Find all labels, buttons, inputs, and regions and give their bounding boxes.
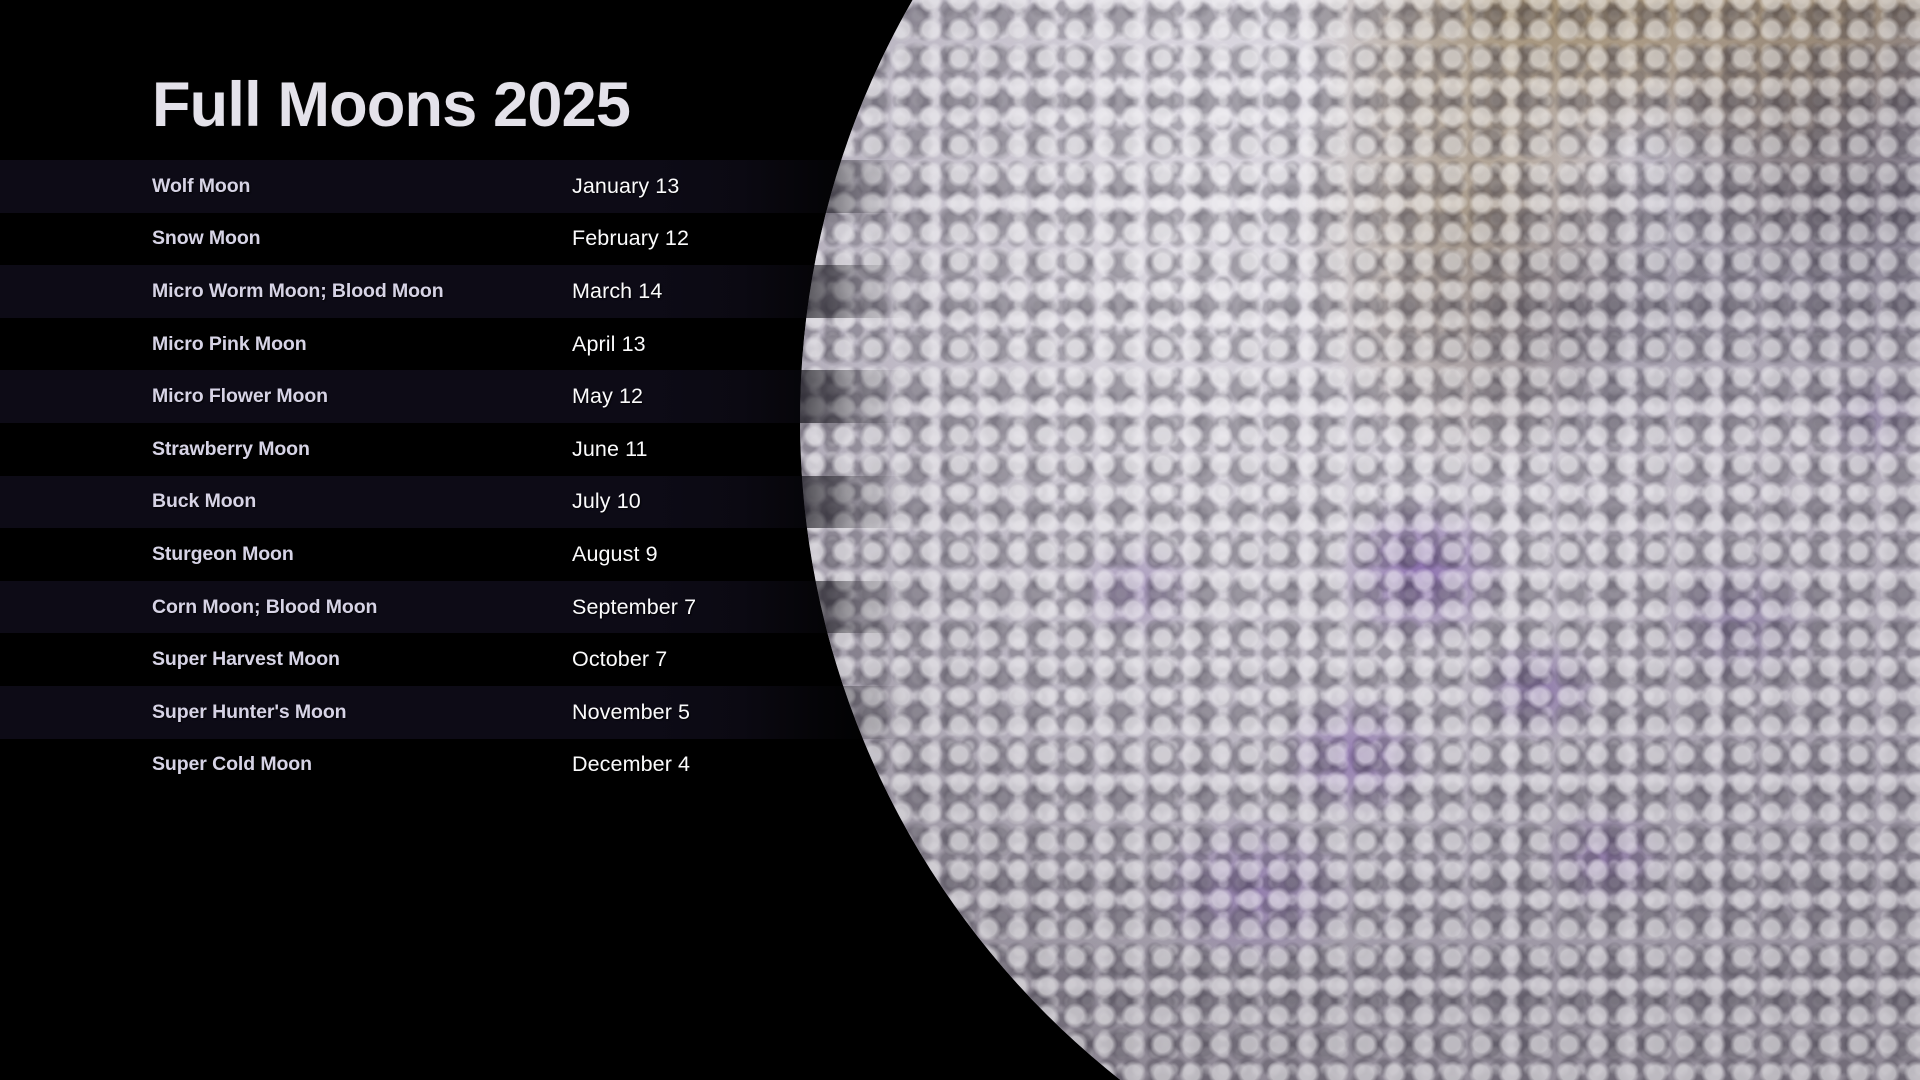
table-row: Sturgeon MoonAugust 9 (0, 528, 980, 581)
moon-name-cell: Super Hunter's Moon (152, 701, 572, 724)
moon-name-cell: Micro Worm Moon; Blood Moon (152, 280, 572, 303)
moon-date-cell: November 5 (572, 700, 690, 725)
table-row: Buck MoonJuly 10 (0, 476, 980, 529)
table-row: Super Hunter's MoonNovember 5 (0, 686, 980, 739)
moon-date-cell: September 7 (572, 595, 696, 620)
table-row: Corn Moon; Blood MoonSeptember 7 (0, 581, 980, 634)
table-row: Super Harvest MoonOctober 7 (0, 633, 980, 686)
moon-name-cell: Snow Moon (152, 227, 572, 250)
moon-name-cell: Wolf Moon (152, 175, 572, 198)
moon-name-cell: Strawberry Moon (152, 438, 572, 461)
table-row: Snow MoonFebruary 12 (0, 213, 980, 266)
table-row: Strawberry MoonJune 11 (0, 423, 980, 476)
poster-canvas: Full Moons 2025 Wolf MoonJanuary 13Snow … (0, 0, 1920, 1080)
table-row: Wolf MoonJanuary 13 (0, 160, 980, 213)
full-moon-table: Wolf MoonJanuary 13Snow MoonFebruary 12M… (0, 160, 980, 791)
table-row: Micro Flower MoonMay 12 (0, 370, 980, 423)
moon-date-cell: January 13 (572, 174, 679, 199)
table-row: Super Cold MoonDecember 4 (0, 739, 980, 792)
moon-name-cell: Micro Flower Moon (152, 385, 572, 408)
moon-date-cell: February 12 (572, 226, 689, 251)
moon-name-cell: Micro Pink Moon (152, 333, 572, 356)
moon-date-cell: March 14 (572, 279, 662, 304)
table-row: Micro Worm Moon; Blood MoonMarch 14 (0, 265, 980, 318)
moon-date-cell: April 13 (572, 332, 646, 357)
moon-name-cell: Buck Moon (152, 490, 572, 513)
moon-date-cell: July 10 (572, 489, 641, 514)
moon-date-cell: May 12 (572, 384, 643, 409)
moon-date-cell: December 4 (572, 752, 690, 777)
table-row: Micro Pink MoonApril 13 (0, 318, 980, 371)
moon-name-cell: Corn Moon; Blood Moon (152, 596, 572, 619)
content-panel: Full Moons 2025 Wolf MoonJanuary 13Snow … (0, 0, 980, 1080)
moon-name-cell: Sturgeon Moon (152, 543, 572, 566)
page-title: Full Moons 2025 (152, 74, 630, 137)
moon-date-cell: June 11 (572, 437, 648, 462)
moon-name-cell: Super Harvest Moon (152, 648, 572, 671)
moon-date-cell: August 9 (572, 542, 658, 567)
moon-date-cell: October 7 (572, 647, 667, 672)
moon-name-cell: Super Cold Moon (152, 753, 572, 776)
